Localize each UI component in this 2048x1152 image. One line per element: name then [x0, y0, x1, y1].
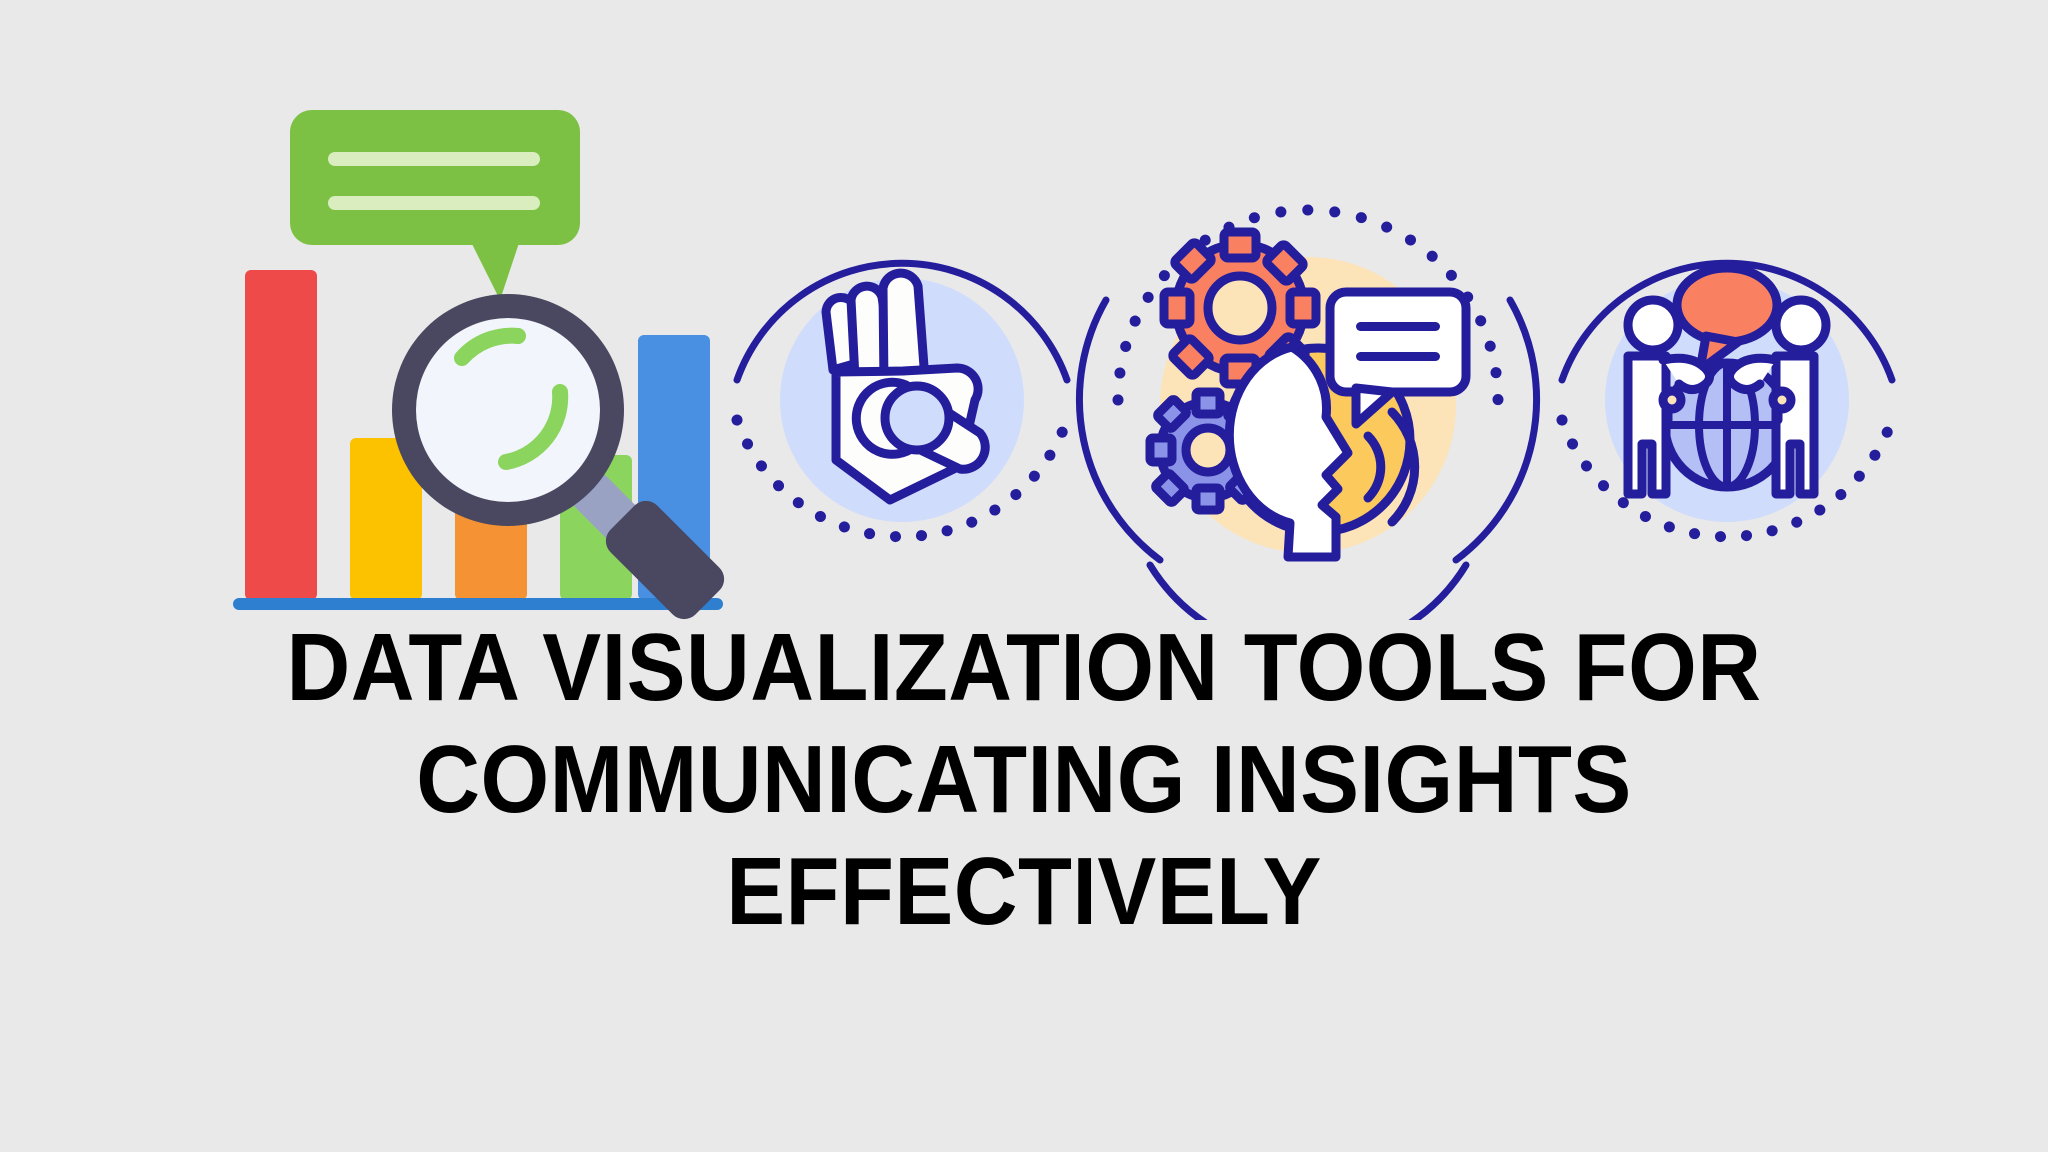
bar-chart-group	[233, 110, 731, 620]
chart-baseline	[233, 598, 723, 610]
speech-bubble-icon	[290, 110, 580, 300]
page-title: DATA VISUALIZATION TOOLS FOR COMMUNICATI…	[0, 612, 2048, 948]
headline-line-1: DATA VISUALIZATION TOOLS FOR	[82, 612, 1966, 724]
circle-icon-gears-speaking-head	[1079, 210, 1536, 620]
illustration-area	[0, 0, 2048, 620]
illustration-svg	[0, 0, 2048, 620]
banner-root: DATA VISUALIZATION TOOLS FOR COMMUNICATI…	[0, 0, 2048, 1152]
headline-line-3: EFFECTIVELY	[82, 836, 1966, 948]
headline-line-2: COMMUNICATING INSIGHTS	[82, 724, 1966, 836]
circle-icon-ok-hand	[737, 263, 1067, 536]
circle-icon-people-globe	[1562, 263, 1892, 536]
bar-1	[245, 270, 317, 600]
arc-solid-left	[1079, 300, 1160, 560]
magnifier-lens-icon	[392, 294, 624, 526]
